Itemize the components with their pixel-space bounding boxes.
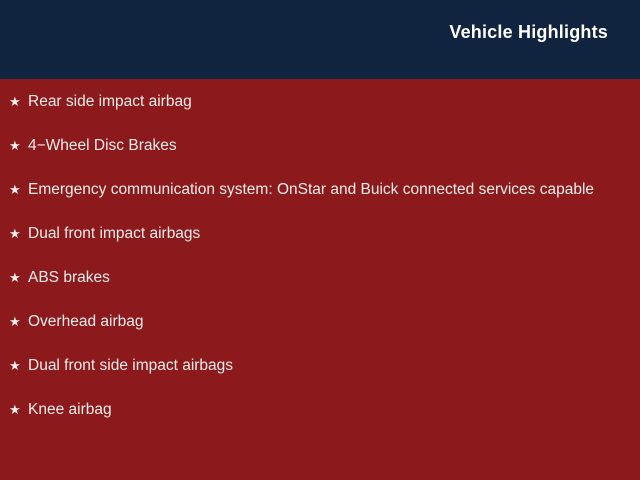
page-title: Vehicle Highlights	[449, 23, 608, 41]
list-item-label: Dual front impact airbags	[28, 223, 606, 244]
list-item-label: Rear side impact airbag	[28, 91, 606, 112]
list-item-label: 4−Wheel Disc Brakes	[28, 135, 606, 156]
list-item-label: Dual front side impact airbags	[28, 355, 606, 376]
star-bullet-icon: ★	[9, 179, 28, 200]
list-item-label: Emergency communication system: OnStar a…	[28, 179, 606, 200]
list-item: ★ ABS brakes	[9, 267, 606, 288]
list-item: ★ Dual front side impact airbags	[9, 355, 606, 376]
list-item-label: Knee airbag	[28, 399, 606, 420]
star-bullet-icon: ★	[9, 311, 28, 332]
star-bullet-icon: ★	[9, 355, 28, 376]
star-bullet-icon: ★	[9, 91, 28, 112]
star-bullet-icon: ★	[9, 135, 28, 156]
star-bullet-icon: ★	[9, 223, 28, 244]
list-item: ★ Emergency communication system: OnStar…	[9, 179, 606, 200]
list-item: ★ Knee airbag	[9, 399, 606, 420]
list-item: ★ 4−Wheel Disc Brakes	[9, 135, 606, 156]
feature-list: ★ Rear side impact airbag ★ 4−Wheel Disc…	[9, 91, 606, 420]
star-bullet-icon: ★	[9, 399, 28, 420]
list-item: ★ Dual front impact airbags	[9, 223, 606, 244]
list-item-label: ABS brakes	[28, 267, 606, 288]
star-bullet-icon: ★	[9, 267, 28, 288]
list-item: ★ Overhead airbag	[9, 311, 606, 332]
highlights-body: ★ Rear side impact airbag ★ 4−Wheel Disc…	[0, 79, 640, 480]
list-item: ★ Rear side impact airbag	[9, 91, 606, 112]
vehicle-highlights-slide: Vehicle Highlights ★ Rear side impact ai…	[0, 0, 640, 480]
list-item-label: Overhead airbag	[28, 311, 606, 332]
header-bar: Vehicle Highlights	[0, 0, 640, 79]
